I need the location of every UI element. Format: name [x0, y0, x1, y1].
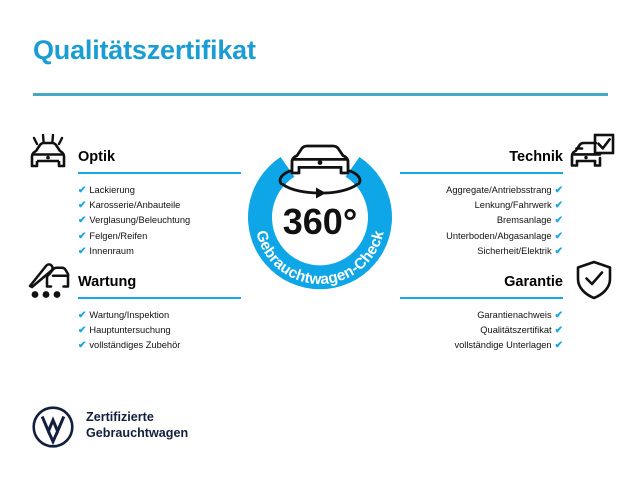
section-technik: Technik Aggregate/Antriebsstrang✔ Lenkun…: [400, 140, 563, 259]
list-item: Garantienachweis✔: [400, 308, 563, 323]
list-item-label: Lenkung/Fahrwerk: [475, 200, 552, 210]
check-icon: ✔: [555, 340, 563, 351]
section-wartung: Wartung ✔Wartung/Inspektion ✔Hauptunters…: [78, 265, 241, 354]
title-divider: [33, 93, 608, 96]
check-icon: ✔: [78, 185, 86, 196]
list-item-label: Hauptuntersuchung: [89, 325, 170, 335]
check-icon: ✔: [78, 200, 86, 211]
list-item-label: Wartung/Inspektion: [89, 310, 169, 320]
list-item-label: Qualitätszertifikat: [480, 325, 551, 335]
car-checkbox-icon: [568, 132, 616, 179]
section-underline: [78, 297, 241, 299]
section-title-garantie: Garantie: [504, 274, 563, 290]
list-item: ✔Lackierung: [78, 183, 241, 198]
list-item-label: Lackierung: [89, 185, 134, 195]
list-item-label: Unterboden/Abgasanlage: [446, 231, 551, 241]
list-item-label: Sicherheit/Elektrik: [477, 246, 551, 256]
check-icon: ✔: [555, 246, 563, 257]
checklist-technik: Aggregate/Antriebsstrang✔ Lenkung/Fahrwe…: [400, 183, 563, 259]
section-underline: [78, 172, 241, 174]
checklist-optik: ✔Lackierung ✔Karosserie/Anbauteile ✔Verg…: [78, 183, 241, 259]
list-item-label: Karosserie/Anbauteile: [89, 200, 180, 210]
section-garantie: Garantie Garantienachweis✔ Qualitätszert…: [400, 265, 563, 354]
section-underline: [400, 172, 563, 174]
list-item-label: Bremsanlage: [497, 215, 552, 225]
page-title: Qualitätszertifikat: [33, 35, 256, 66]
section-title-technik: Technik: [509, 149, 563, 165]
section-title-optik: Optik: [78, 149, 115, 165]
list-item-label: Verglasung/Beleuchtung: [89, 215, 190, 225]
badge-360-gebrauchtwagen-check: Gebrauchtwagen-Check 360°: [228, 122, 412, 306]
car-polish-icon: [26, 134, 72, 179]
list-item: ✔Felgen/Reifen: [78, 229, 241, 244]
list-item-label: Garantienachweis: [477, 310, 551, 320]
check-icon: ✔: [78, 215, 86, 226]
check-icon: ✔: [78, 246, 86, 257]
check-icon: ✔: [78, 325, 86, 336]
car-rotation-icon: [280, 146, 360, 199]
list-item: Lenkung/Fahrwerk✔: [400, 198, 563, 213]
list-item: Unterboden/Abgasanlage✔: [400, 229, 563, 244]
list-item-label: Aggregate/Antriebsstrang: [446, 185, 551, 195]
list-item: Aggregate/Antriebsstrang✔: [400, 183, 563, 198]
check-icon: ✔: [555, 325, 563, 336]
section-title-wartung: Wartung: [78, 274, 136, 290]
check-icon: ✔: [555, 185, 563, 196]
section-header: Wartung: [78, 265, 241, 299]
list-item: Qualitätszertifikat✔: [400, 323, 563, 338]
footer-line-1: Zertifizierte: [86, 410, 188, 426]
footer-line-2: Gebrauchtwagen: [86, 426, 188, 442]
certificate-page: Qualitätszertifikat Optik: [0, 0, 640, 480]
check-icon: ✔: [78, 231, 86, 242]
list-item-label: Innenraum: [89, 246, 133, 256]
check-icon: ✔: [555, 310, 563, 321]
list-item: ✔Innenraum: [78, 244, 241, 259]
section-header: Garantie: [400, 265, 563, 299]
list-item: ✔Karosserie/Anbauteile: [78, 198, 241, 213]
list-item: ✔Wartung/Inspektion: [78, 308, 241, 323]
footer-text: Zertifizierte Gebrauchtwagen: [86, 410, 188, 441]
vw-logo: [32, 406, 74, 453]
checklist-garantie: Garantienachweis✔ Qualitätszertifikat✔ v…: [400, 308, 563, 354]
section-optik: Optik ✔Lackierung ✔Karosserie/Anbauteile…: [78, 140, 241, 259]
list-item: ✔Hauptuntersuchung: [78, 323, 241, 338]
check-icon: ✔: [555, 200, 563, 211]
list-item: Bremsanlage✔: [400, 213, 563, 228]
check-icon: ✔: [78, 310, 86, 321]
check-icon: ✔: [555, 231, 563, 242]
list-item: ✔vollständiges Zubehör: [78, 338, 241, 353]
wrench-car-icon: [26, 259, 72, 306]
list-item-label: vollständige Unterlagen: [454, 340, 551, 350]
list-item: ✔Verglasung/Beleuchtung: [78, 213, 241, 228]
section-header: Technik: [400, 140, 563, 174]
check-icon: ✔: [555, 215, 563, 226]
section-header: Optik: [78, 140, 241, 174]
list-item: Sicherheit/Elektrik✔: [400, 244, 563, 259]
list-item: vollständige Unterlagen✔: [400, 338, 563, 353]
check-icon: ✔: [78, 340, 86, 351]
shield-check-icon: [574, 259, 614, 306]
section-underline: [400, 297, 563, 299]
checklist-wartung: ✔Wartung/Inspektion ✔Hauptuntersuchung ✔…: [78, 308, 241, 354]
list-item-label: vollständiges Zubehör: [89, 340, 180, 350]
badge-center-label: 360°: [283, 201, 357, 242]
list-item-label: Felgen/Reifen: [89, 231, 147, 241]
